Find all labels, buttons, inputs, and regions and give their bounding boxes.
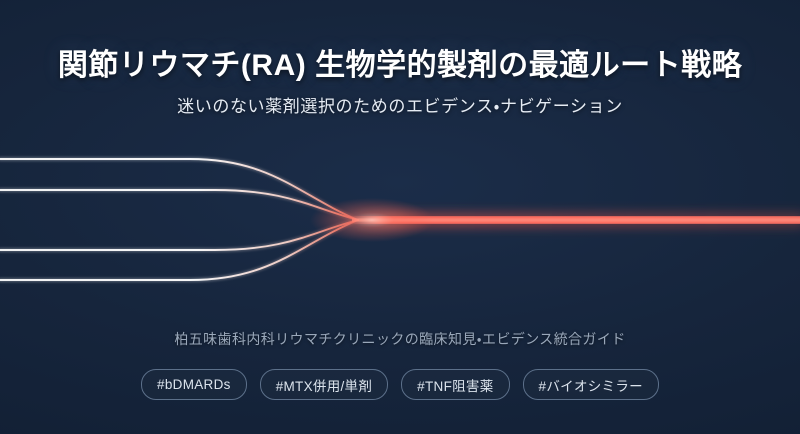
hashtag-row: #bDMARDs #MTX併用/単剤 #TNF阻害薬 #バイオシミラー <box>0 369 800 400</box>
hashtag-pill-bdmards[interactable]: #bDMARDs <box>141 369 247 400</box>
page-subtitle: 迷いのない薬剤選択のためのエビデンス・ナビゲーション <box>0 92 800 117</box>
hashtag-pill-tnf[interactable]: #TNF阻害薬 <box>401 369 509 400</box>
hashtag-pill-biosimilar[interactable]: #バイオシミラー <box>523 369 659 400</box>
clinic-caption: 柏五味歯科内科リウマチクリニックの臨床知見・エビデンス統合ガイド <box>0 329 800 349</box>
hashtag-pill-mtx[interactable]: #MTX併用/単剤 <box>260 369 388 400</box>
hero-content: 関節リウマチ(RA) 生物学的製剤の最適ルート戦略 迷いのない薬剤選択のためのエ… <box>0 0 800 434</box>
hero-banner: 関節リウマチ(RA) 生物学的製剤の最適ルート戦略 迷いのない薬剤選択のためのエ… <box>0 0 800 434</box>
page-title: 関節リウマチ(RA) 生物学的製剤の最適ルート戦略 <box>0 40 800 84</box>
